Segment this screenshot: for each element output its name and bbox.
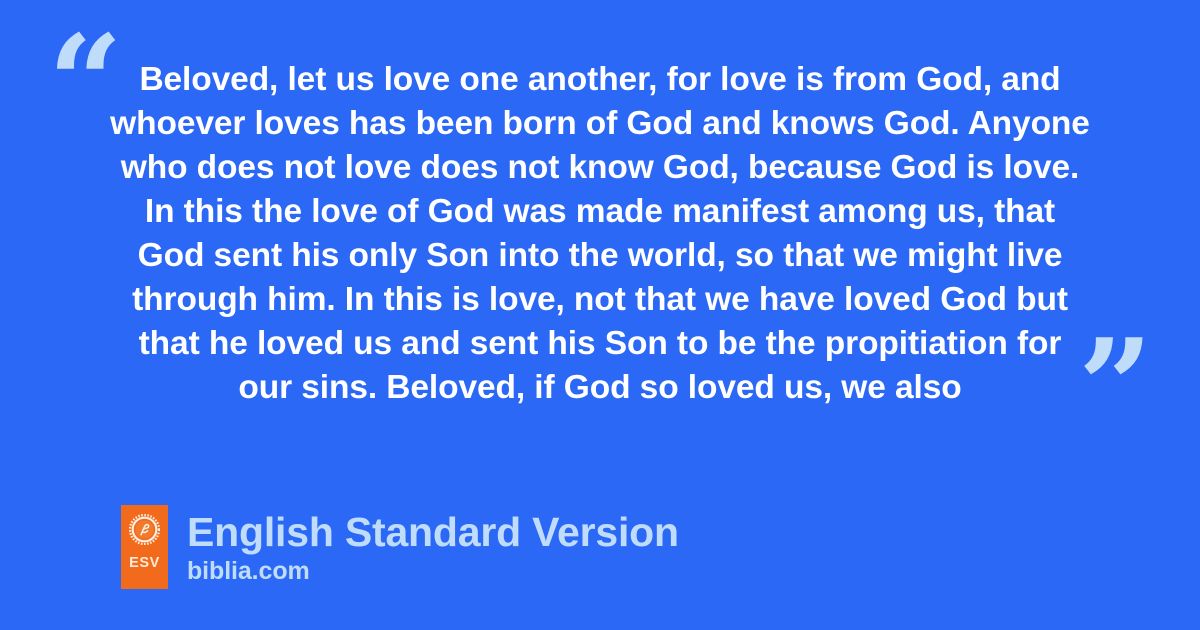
quote-line: our sins. Beloved, if God so loved us, w…: [110, 366, 1090, 410]
quote-line: whoever loves has been born of God and k…: [110, 102, 1090, 146]
quote-line: God sent his only Son into the world, so…: [110, 234, 1090, 278]
quote-line: In this the love of God was made manifes…: [110, 190, 1090, 234]
esv-badge-label: ESV: [129, 556, 160, 571]
site-url: biblia.com: [187, 556, 679, 586]
esv-logo-badge: ESV: [121, 505, 168, 589]
quote-line: that he loved us and sent his Son to be …: [110, 322, 1090, 366]
quote-card: “ Beloved, let us love one another, for …: [0, 0, 1200, 630]
quote-text: Beloved, let us love one another, for lo…: [110, 58, 1090, 410]
quote-line: who does not love does not know God, bec…: [110, 146, 1090, 190]
closing-quote-icon: ”: [1078, 322, 1153, 452]
attribution-footer: ESV English Standard Version biblia.com: [121, 505, 679, 589]
translation-title: English Standard Version: [187, 509, 679, 555]
quote-line: through him. In this is love, not that w…: [110, 278, 1090, 322]
attribution-text: English Standard Version biblia.com: [187, 505, 679, 586]
quote-line: Beloved, let us love one another, for lo…: [110, 58, 1090, 102]
esv-seal-icon: [129, 514, 160, 545]
